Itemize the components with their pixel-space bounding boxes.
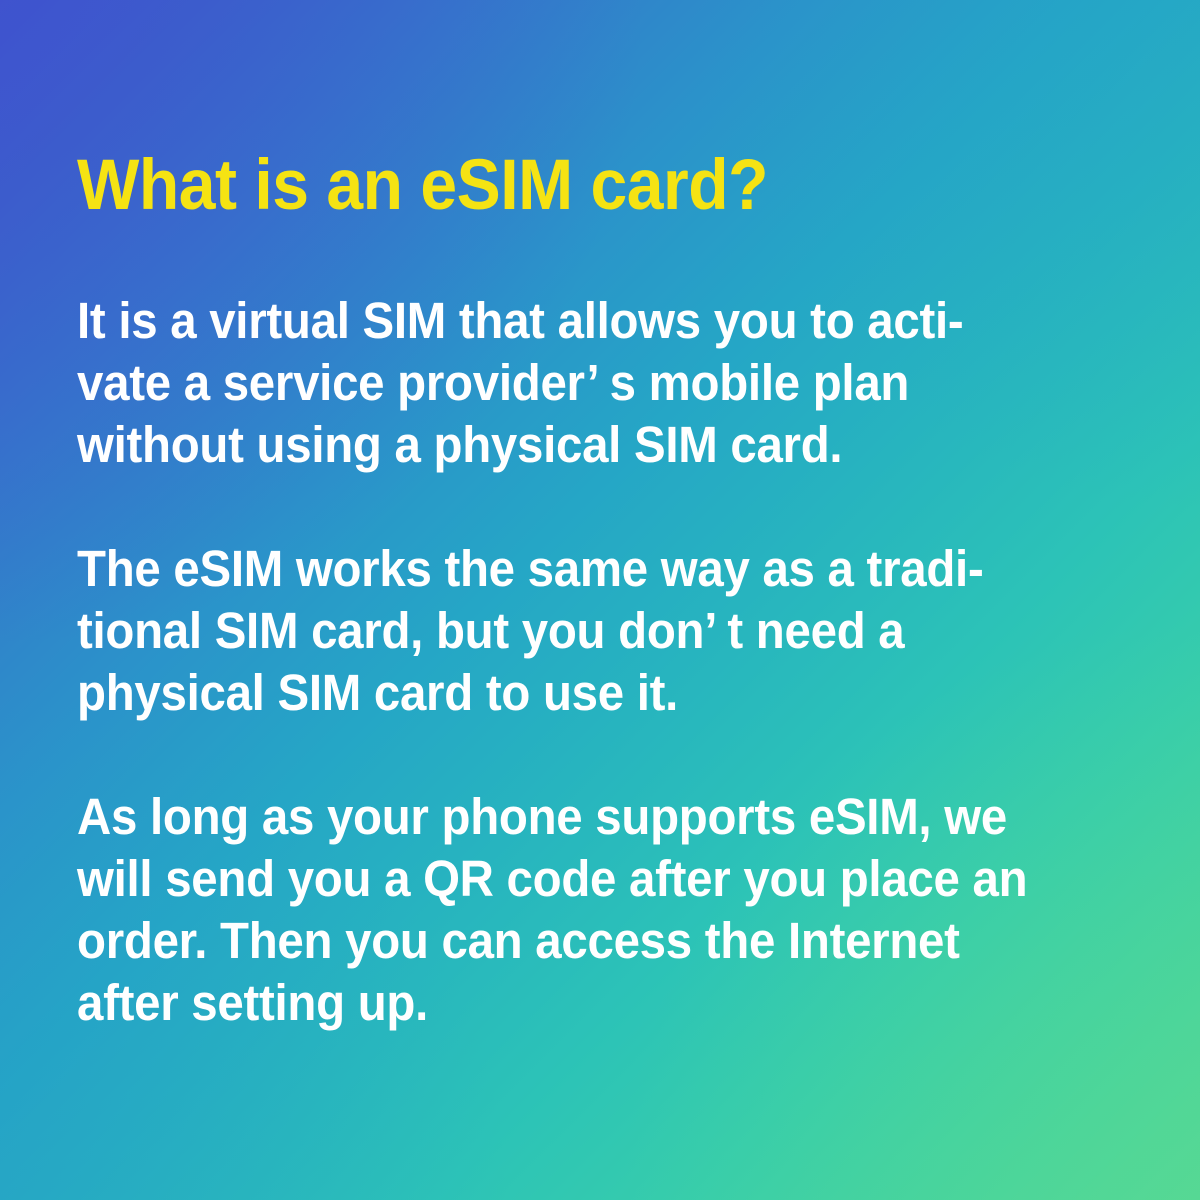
paragraph-qr-code-delivery: As long as your phone supports eSIM, we … <box>77 786 1007 1034</box>
paragraph-line: The eSIM works the same way as a tradi- <box>77 538 1007 600</box>
paragraph-line: after setting up. <box>77 972 1007 1034</box>
paragraph-line: vate a service provider’ s mobile plan <box>77 352 1007 414</box>
paragraph-line: will send you a QR code after you place … <box>77 848 1007 910</box>
paragraph-what-is-esim: It is a virtual SIM that allows you to a… <box>77 290 1007 476</box>
poster-content: What is an eSIM card? It is a virtual SI… <box>77 148 1077 1034</box>
paragraph-line: without using a physical SIM card. <box>77 414 1007 476</box>
paragraph-line: order. Then you can access the Internet <box>77 910 1007 972</box>
paragraph-line: It is a virtual SIM that allows you to a… <box>77 290 1007 352</box>
paragraph-line: tional SIM card, but you don’ t need a <box>77 600 1007 662</box>
paragraph-line: physical SIM card to use it. <box>77 662 1007 724</box>
page-title: What is an eSIM card? <box>77 148 1007 224</box>
body-copy: It is a virtual SIM that allows you to a… <box>77 290 1077 1034</box>
paragraph-how-it-works: The eSIM works the same way as a tradi- … <box>77 538 1007 724</box>
paragraph-line: As long as your phone supports eSIM, we <box>77 786 1007 848</box>
esim-info-poster: What is an eSIM card? It is a virtual SI… <box>0 0 1200 1200</box>
